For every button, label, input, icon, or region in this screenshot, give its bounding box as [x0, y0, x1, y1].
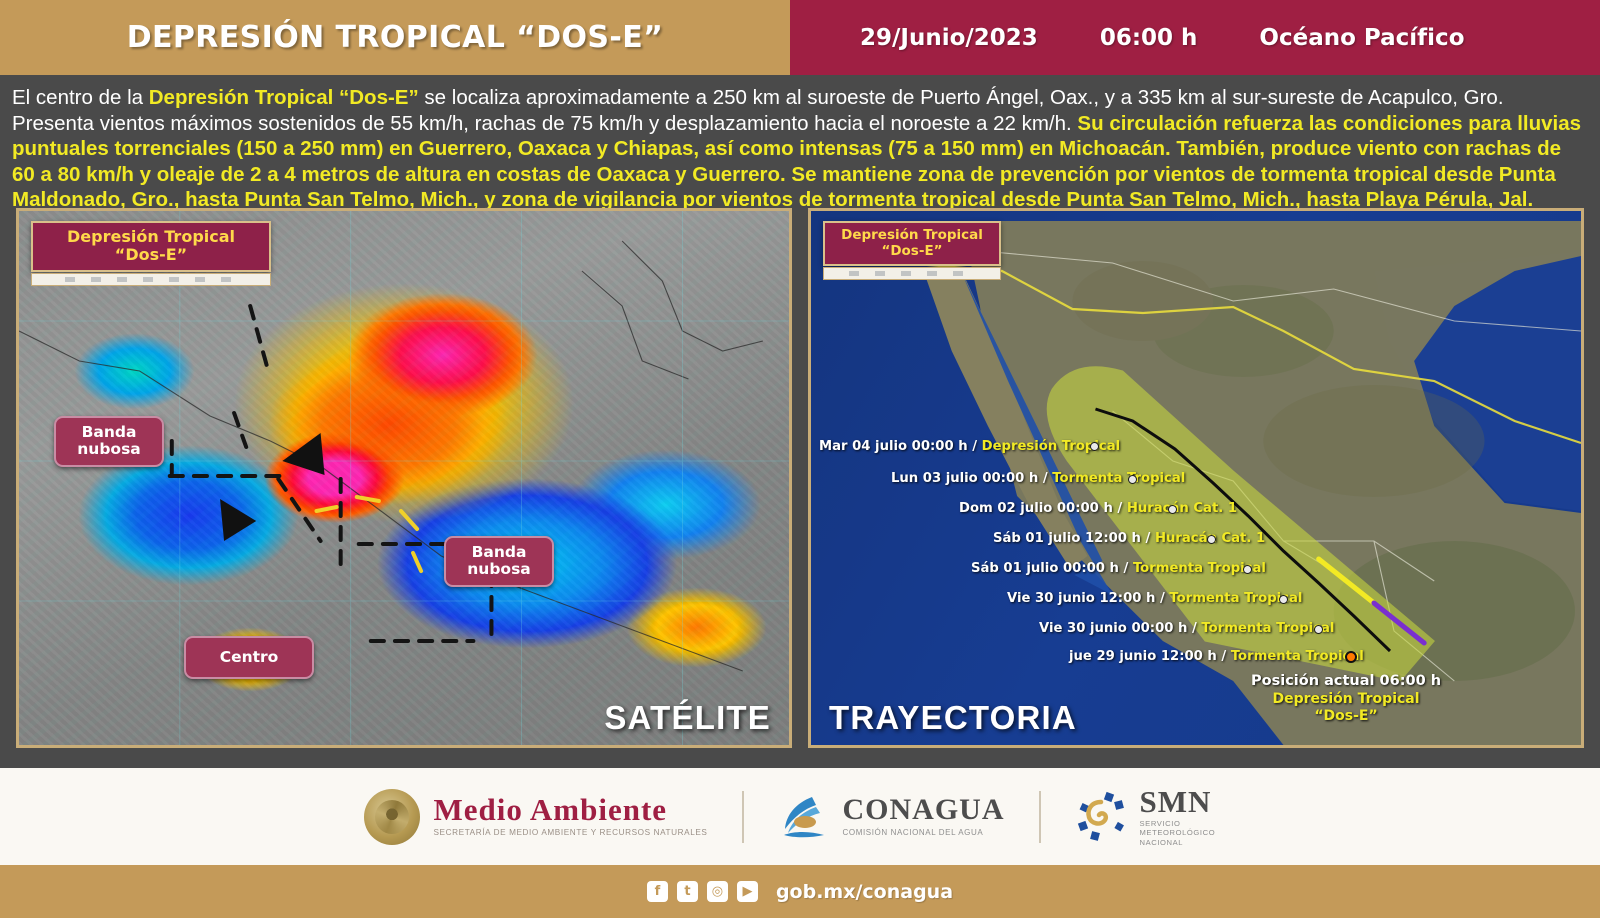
forecast-category: Tormenta Tropical: [1231, 649, 1364, 664]
twitter-icon[interactable]: t: [677, 881, 698, 902]
medio-ambiente-title: Medio Ambiente: [433, 794, 707, 825]
forecast-time: Lun 03 julio 00:00 h /: [891, 471, 1052, 486]
bulletin-page: DEPRESIÓN TROPICAL “DOS-E” 29/Junio/2023…: [0, 0, 1600, 918]
social-bar: f t ◎ ▶ gob.mx/conagua: [0, 865, 1600, 918]
forecast-point-marker: [1090, 442, 1099, 451]
conagua-subtitle: COMISIÓN NACIONAL DEL AGUA: [843, 828, 1005, 838]
header-time: 06:00 h: [1100, 25, 1198, 51]
forecast-time: Sáb 01 julio 12:00 h /: [993, 531, 1155, 546]
forecast-point-row: Dom 02 julio 00:00 h / Huracán Cat. 1: [959, 501, 1237, 516]
satellite-title-line2: “Dos-E”: [47, 246, 255, 264]
annotation-centro: Centro: [184, 636, 314, 679]
satellite-geography-overlay: [19, 211, 789, 745]
forecast-point-row: jue 29 junio 12:00 h / Tormenta Tropical: [1069, 649, 1364, 664]
trajectory-caption: TRAYECTORIA: [829, 699, 1077, 737]
forecast-point-marker: [1279, 595, 1288, 604]
header-bar: DEPRESIÓN TROPICAL “DOS-E” 29/Junio/2023…: [0, 0, 1600, 75]
conagua-title: CONAGUA: [843, 795, 1005, 825]
current-position-line1: Posición actual 06:00 h: [1251, 673, 1441, 691]
trajectory-panel[interactable]: Depresión Tropical “Dos-E” Mar 04 julio …: [808, 208, 1584, 748]
bulletin-paragraph: El centro de la Depresión Tropical “Dos-…: [12, 85, 1588, 213]
current-position-line3: “Dos-E”: [1251, 708, 1441, 725]
current-position-callout: Posición actual 06:00 h Depresión Tropic…: [1251, 673, 1441, 725]
imagery-panels: Depresión Tropical “Dos-E” Banda nubosa …: [0, 208, 1600, 748]
current-position-line2: Depresión Tropical: [1251, 691, 1441, 708]
medio-ambiente-text: Medio Ambiente SECRETARÍA DE MEDIO AMBIE…: [433, 794, 707, 838]
satellite-storm-title: Depresión Tropical “Dos-E”: [31, 221, 271, 272]
footer-logo-bar: Medio Ambiente SECRETARÍA DE MEDIO AMBIE…: [0, 768, 1600, 865]
forecast-point-row: Sáb 01 julio 00:00 h / Tormenta Tropical: [971, 561, 1266, 576]
header-meta-block: 29/Junio/2023 06:00 h Océano Pacífico: [790, 0, 1600, 75]
smn-subtitle: SERVICIO METEOROLÓGICO NACIONAL: [1140, 819, 1236, 847]
forecast-category: Depresión Tropical: [982, 439, 1121, 454]
forecast-point-marker: [1243, 565, 1252, 574]
forecast-time: Vie 30 junio 12:00 h /: [1007, 591, 1169, 606]
forecast-category: Tormenta Tropical: [1052, 471, 1185, 486]
smn-title: SMN: [1140, 786, 1236, 817]
logo-conagua: CONAGUA COMISIÓN NACIONAL DEL AGUA: [778, 791, 1005, 843]
smn-text: SMN SERVICIO METEOROLÓGICO NACIONAL: [1140, 786, 1236, 847]
forecast-time: Vie 30 junio 00:00 h /: [1039, 621, 1201, 636]
conagua-water-icon: [778, 791, 830, 843]
forecast-point-marker: [1168, 505, 1177, 514]
forecast-point-row: Vie 30 junio 12:00 h / Tormenta Tropical: [1007, 591, 1302, 606]
satellite-panel[interactable]: Depresión Tropical “Dos-E” Banda nubosa …: [16, 208, 792, 748]
header-date: 29/Junio/2023: [860, 25, 1038, 51]
bulletin-text-block: El centro de la Depresión Tropical “Dos-…: [0, 75, 1600, 208]
logo-divider: [1039, 791, 1041, 843]
header-basin: Océano Pacífico: [1259, 25, 1464, 51]
forecast-point-row: Mar 04 julio 00:00 h / Depresión Tropica…: [819, 439, 1120, 454]
forecast-point-row: Lun 03 julio 00:00 h / Tormenta Tropical: [891, 471, 1185, 486]
forecast-point-marker: [1314, 625, 1323, 634]
smn-spiral-icon: [1075, 790, 1127, 842]
satellite-caption: SATÉLITE: [604, 699, 771, 737]
forecast-time: Sáb 01 julio 00:00 h /: [971, 561, 1133, 576]
trajectory-title-line1: Depresión Tropical: [839, 228, 985, 244]
instagram-icon[interactable]: ◎: [707, 881, 728, 902]
logo-divider: [742, 791, 744, 843]
youtube-icon[interactable]: ▶: [737, 881, 758, 902]
forecast-time: jue 29 junio 12:00 h /: [1069, 649, 1231, 664]
website-url[interactable]: gob.mx/conagua: [776, 881, 953, 903]
conagua-text: CONAGUA COMISIÓN NACIONAL DEL AGUA: [843, 795, 1005, 838]
satellite-logo-strip: [31, 273, 271, 286]
medio-ambiente-subtitle: SECRETARÍA DE MEDIO AMBIENTE Y RECURSOS …: [433, 828, 707, 838]
forecast-point-marker: [1207, 535, 1216, 544]
logo-medio-ambiente: Medio Ambiente SECRETARÍA DE MEDIO AMBIE…: [364, 789, 707, 845]
annotation-banda-nubosa-1: Banda nubosa: [54, 416, 164, 467]
mexico-coat-of-arms-icon: [364, 789, 420, 845]
trajectory-storm-title: Depresión Tropical “Dos-E”: [823, 221, 1001, 266]
annotation-banda-nubosa-2: Banda nubosa: [444, 536, 554, 587]
bulletin-storm-name: Depresión Tropical “Dos-E”: [149, 86, 419, 109]
trajectory-title-line2: “Dos-E”: [839, 244, 985, 260]
satellite-title-line1: Depresión Tropical: [47, 228, 255, 246]
forecast-point-row: Vie 30 junio 00:00 h / Tormenta Tropical: [1039, 621, 1334, 636]
annotation-2-line1: Banda: [462, 544, 536, 561]
page-title: DEPRESIÓN TROPICAL “DOS-E”: [127, 20, 664, 55]
forecast-time: Dom 02 julio 00:00 h /: [959, 501, 1127, 516]
forecast-time: Mar 04 julio 00:00 h /: [819, 439, 982, 454]
logo-smn: SMN SERVICIO METEOROLÓGICO NACIONAL: [1075, 786, 1236, 847]
header-title-block: DEPRESIÓN TROPICAL “DOS-E”: [0, 0, 790, 75]
forecast-category: Huracán Cat. 1: [1127, 501, 1237, 516]
trajectory-logo-strip: [823, 267, 1001, 280]
annotation-1-line1: Banda: [72, 424, 146, 441]
annotation-2-line2: nubosa: [462, 561, 536, 578]
forecast-point-marker: [1128, 475, 1137, 484]
facebook-icon[interactable]: f: [647, 881, 668, 902]
current-position-marker: [1345, 651, 1357, 663]
bulletin-seg-1: El centro de la: [12, 86, 149, 109]
annotation-1-line2: nubosa: [72, 441, 146, 458]
annotation-3-line1: Centro: [202, 649, 296, 666]
forecast-point-row: Sáb 01 julio 12:00 h / Huracán Cat. 1: [993, 531, 1265, 546]
